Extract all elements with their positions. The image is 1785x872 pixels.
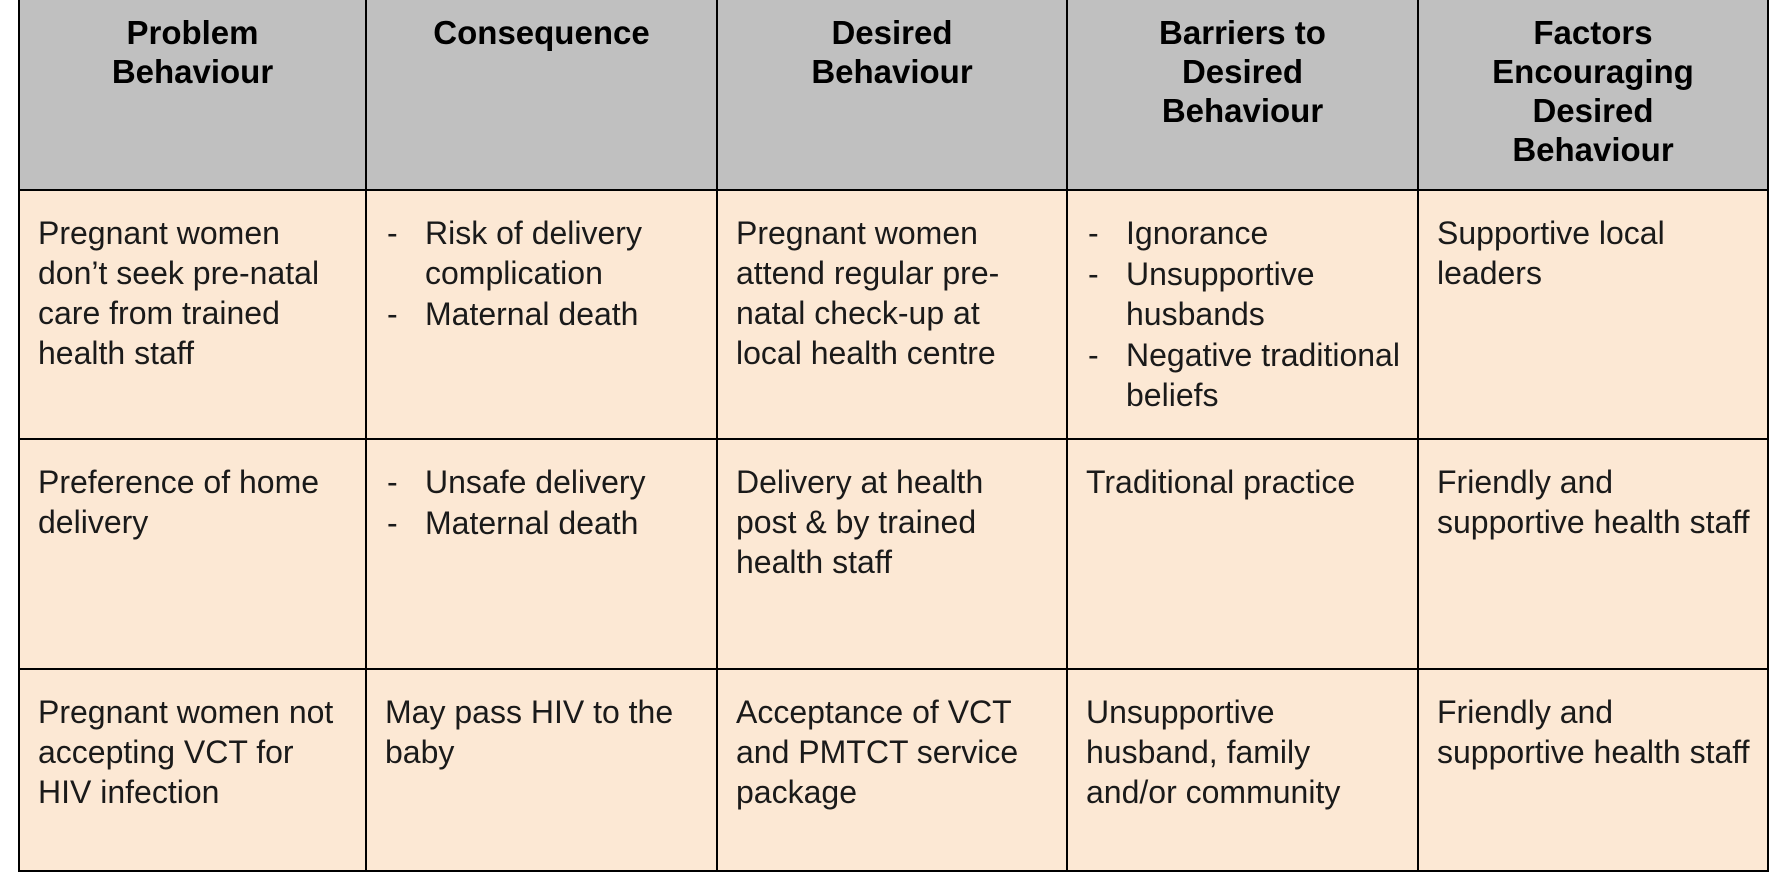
dash-bullet-icon: - [387,213,398,253]
cell-problem-behaviour: Pregnant women don’t seek pre-natal care… [19,190,366,439]
header-line: Desired [1084,53,1401,92]
table-row: Pregnant women don’t seek pre-natal care… [19,190,1768,439]
header-line: Desired [734,14,1050,53]
cell-factors-encouraging: Supportive local leaders [1418,190,1768,439]
list-item-label: Risk of delivery complication [425,215,642,291]
cell-text: Supportive local leaders [1437,215,1665,291]
behaviour-change-matrix: Problem Behaviour Consequence Desired Be… [18,0,1767,872]
cell-text: Friendly and supportive health staff [1437,464,1750,540]
header-line: Consequence [383,14,700,53]
header-line: Behaviour [1435,131,1751,170]
column-header-problem-behaviour: Problem Behaviour [19,0,366,190]
cell-factors-encouraging: Friendly and supportive health staff [1418,669,1768,871]
column-header-desired-behaviour: Desired Behaviour [717,0,1067,190]
list-item: - Ignorance [1086,213,1401,253]
cell-text: Pregnant women attend regular pre-natal … [736,215,999,371]
cell-text: Traditional practice [1086,464,1355,500]
cell-text: Delivery at health post & by trained hea… [736,464,983,580]
dash-bullet-icon: - [1088,335,1099,375]
list-item-label: Unsupportive husbands [1126,256,1315,332]
header-line: Behaviour [1084,92,1401,131]
cell-desired-behaviour: Delivery at health post & by trained hea… [717,439,1067,669]
cell-consequence: - Unsafe delivery - Maternal death [366,439,717,669]
cell-barriers: - Ignorance - Unsupportive husbands - Ne… [1067,190,1418,439]
list-item: - Risk of delivery complication [385,213,700,293]
cell-desired-behaviour: Acceptance of VCT and PMTCT service pack… [717,669,1067,871]
table-header: Problem Behaviour Consequence Desired Be… [19,0,1768,190]
table-row: Preference of home delivery - Unsafe del… [19,439,1768,669]
list-item-label: Maternal death [425,296,638,332]
cell-problem-behaviour: Preference of home delivery [19,439,366,669]
cell-desired-behaviour: Pregnant women attend regular pre-natal … [717,190,1067,439]
list-item-label: Ignorance [1126,215,1268,251]
header-line: Desired [1435,92,1751,131]
cell-problem-behaviour: Pregnant women not accepting VCT for HIV… [19,669,366,871]
cell-barriers: Unsupportive husband, family and/or comm… [1067,669,1418,871]
consequence-list: - Risk of delivery complication - Matern… [385,213,700,334]
column-header-factors-encouraging-desired-behaviour: Factors Encouraging Desired Behaviour [1418,0,1768,190]
cell-consequence: May pass HIV to the baby [366,669,717,871]
cell-text: Preference of home delivery [38,464,319,540]
consequence-list: - Unsafe delivery - Maternal death [385,462,700,543]
table-row: Pregnant women not accepting VCT for HIV… [19,669,1768,871]
column-header-consequence: Consequence [366,0,717,190]
barriers-list: - Ignorance - Unsupportive husbands - Ne… [1086,213,1401,415]
dash-bullet-icon: - [387,462,398,502]
cell-text: Pregnant women don’t seek pre-natal care… [38,215,319,371]
cell-consequence: - Risk of delivery complication - Matern… [366,190,717,439]
cell-text: Acceptance of VCT and PMTCT service pack… [736,694,1018,810]
header-line: Problem [36,14,349,53]
list-item-label: Maternal death [425,505,638,541]
list-item: - Maternal death [385,503,700,543]
dash-bullet-icon: - [1088,213,1099,253]
cell-text: May pass HIV to the baby [385,694,673,770]
header-line: Barriers to [1084,14,1401,53]
cell-text: Unsupportive husband, family and/or comm… [1086,694,1340,810]
header-line: Behaviour [734,53,1050,92]
list-item: - Unsupportive husbands [1086,254,1401,334]
cell-factors-encouraging: Friendly and supportive health staff [1418,439,1768,669]
dash-bullet-icon: - [387,294,398,334]
header-line: Encouraging [1435,53,1751,92]
cell-text: Pregnant women not accepting VCT for HIV… [38,694,333,810]
dash-bullet-icon: - [387,503,398,543]
cell-text: Friendly and supportive health staff [1437,694,1750,770]
list-item-label: Negative traditional beliefs [1126,337,1400,413]
list-item: - Unsafe delivery [385,462,700,502]
cell-barriers: Traditional practice [1067,439,1418,669]
header-line: Behaviour [36,53,349,92]
matrix-table: Problem Behaviour Consequence Desired Be… [18,0,1769,872]
header-line: Factors [1435,14,1751,53]
table-body: Pregnant women don’t seek pre-natal care… [19,190,1768,871]
list-item: - Maternal death [385,294,700,334]
column-header-barriers-to-desired-behaviour: Barriers to Desired Behaviour [1067,0,1418,190]
list-item: - Negative traditional beliefs [1086,335,1401,415]
header-row: Problem Behaviour Consequence Desired Be… [19,0,1768,190]
list-item-label: Unsafe delivery [425,464,646,500]
dash-bullet-icon: - [1088,254,1099,294]
